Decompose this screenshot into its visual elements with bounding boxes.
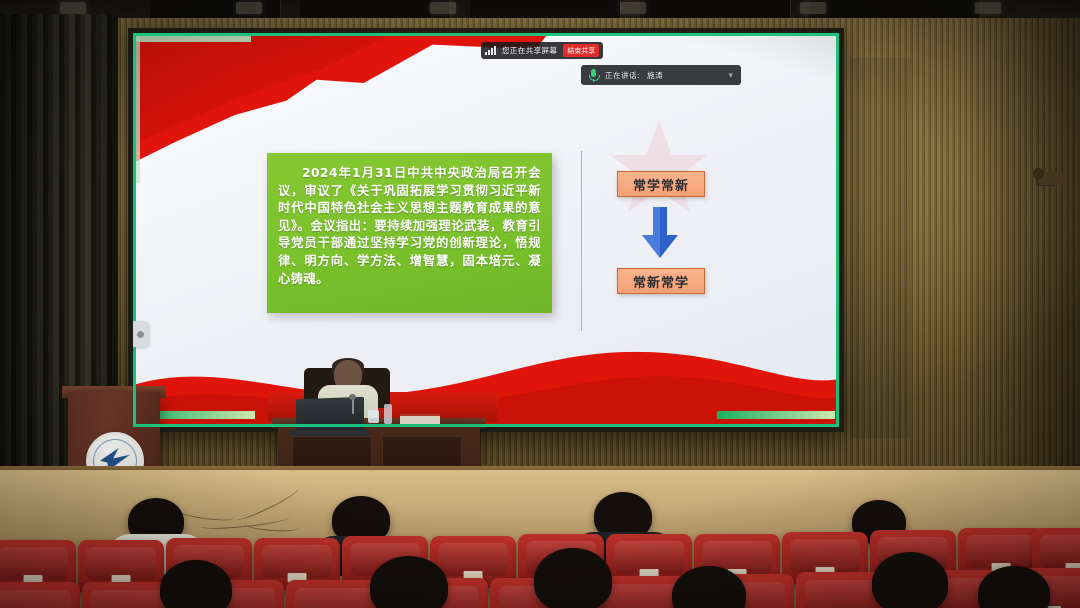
- slide-edge-strip-bottom-right: [717, 411, 835, 419]
- ceiling-light: [620, 2, 646, 14]
- ceiling-light: [236, 2, 262, 14]
- laptop-icon: [296, 397, 364, 433]
- wall-slab: [850, 58, 910, 438]
- stop-sharing-button[interactable]: 结束共享: [563, 44, 599, 57]
- screen-share-status-bar[interactable]: 您正在共享屏幕 结束共享: [481, 42, 603, 59]
- arrow-down-icon: [637, 205, 683, 261]
- audience-head: [534, 548, 612, 608]
- ceiling-light: [975, 2, 1001, 14]
- cup: [368, 410, 379, 423]
- audience-head: [872, 552, 948, 608]
- slide-divider: [581, 151, 582, 331]
- concept-box-bottom: 常新常学: [617, 268, 705, 294]
- ceiling-light: [60, 2, 86, 14]
- security-camera-icon: [1038, 172, 1064, 185]
- seat: [0, 582, 80, 608]
- desk-microphone: [352, 398, 354, 414]
- signal-bars-icon: [485, 46, 496, 55]
- slide-edge-strip-left: [133, 33, 140, 183]
- concept-box-top: 常学常新: [617, 171, 705, 197]
- ceiling-light: [800, 2, 826, 14]
- slide-body-panel: 2024年1月31日中共中央政治局召开会议，审议了《关于巩固拓展学习贯彻习近平新…: [267, 153, 552, 313]
- speaker-name: 施涛: [647, 70, 663, 81]
- presentation-slide: 2024年1月31日中共中央政治局召开会议，审议了《关于巩固拓展学习贯彻习近平新…: [133, 33, 839, 427]
- laptop-base: [290, 430, 370, 436]
- chevron-down-icon[interactable]: ▾: [728, 70, 733, 81]
- microphone-icon: [589, 69, 598, 82]
- lecture-hall-photo: 2024年1月31日中共中央政治局召开会议，审议了《关于巩固拓展学习贯彻习近平新…: [0, 0, 1080, 608]
- wall-right-shadow: [965, 18, 1080, 518]
- ceiling-light: [430, 2, 456, 14]
- projection-screen-frame: 2024年1月31日中共中央政治局召开会议，审议了《关于巩固拓展学习贯彻习近平新…: [128, 28, 844, 432]
- active-speaker-indicator[interactable]: 正在讲话: 施涛 ▾: [581, 65, 741, 85]
- water-bottle: [384, 404, 392, 424]
- nameplate: [400, 414, 440, 427]
- slide-edge-strip-top: [133, 33, 251, 42]
- slide-body-text: 2024年1月31日中共中央政治局召开会议，审议了《关于巩固拓展学习贯彻习近平新…: [278, 165, 541, 288]
- collapse-handle-icon[interactable]: [133, 321, 148, 347]
- projected-screen: 2024年1月31日中共中央政治局召开会议，审议了《关于巩固拓展学习贯彻习近平新…: [133, 33, 839, 427]
- share-status-text: 您正在共享屏幕: [502, 45, 557, 56]
- speaking-label: 正在讲话:: [605, 70, 640, 81]
